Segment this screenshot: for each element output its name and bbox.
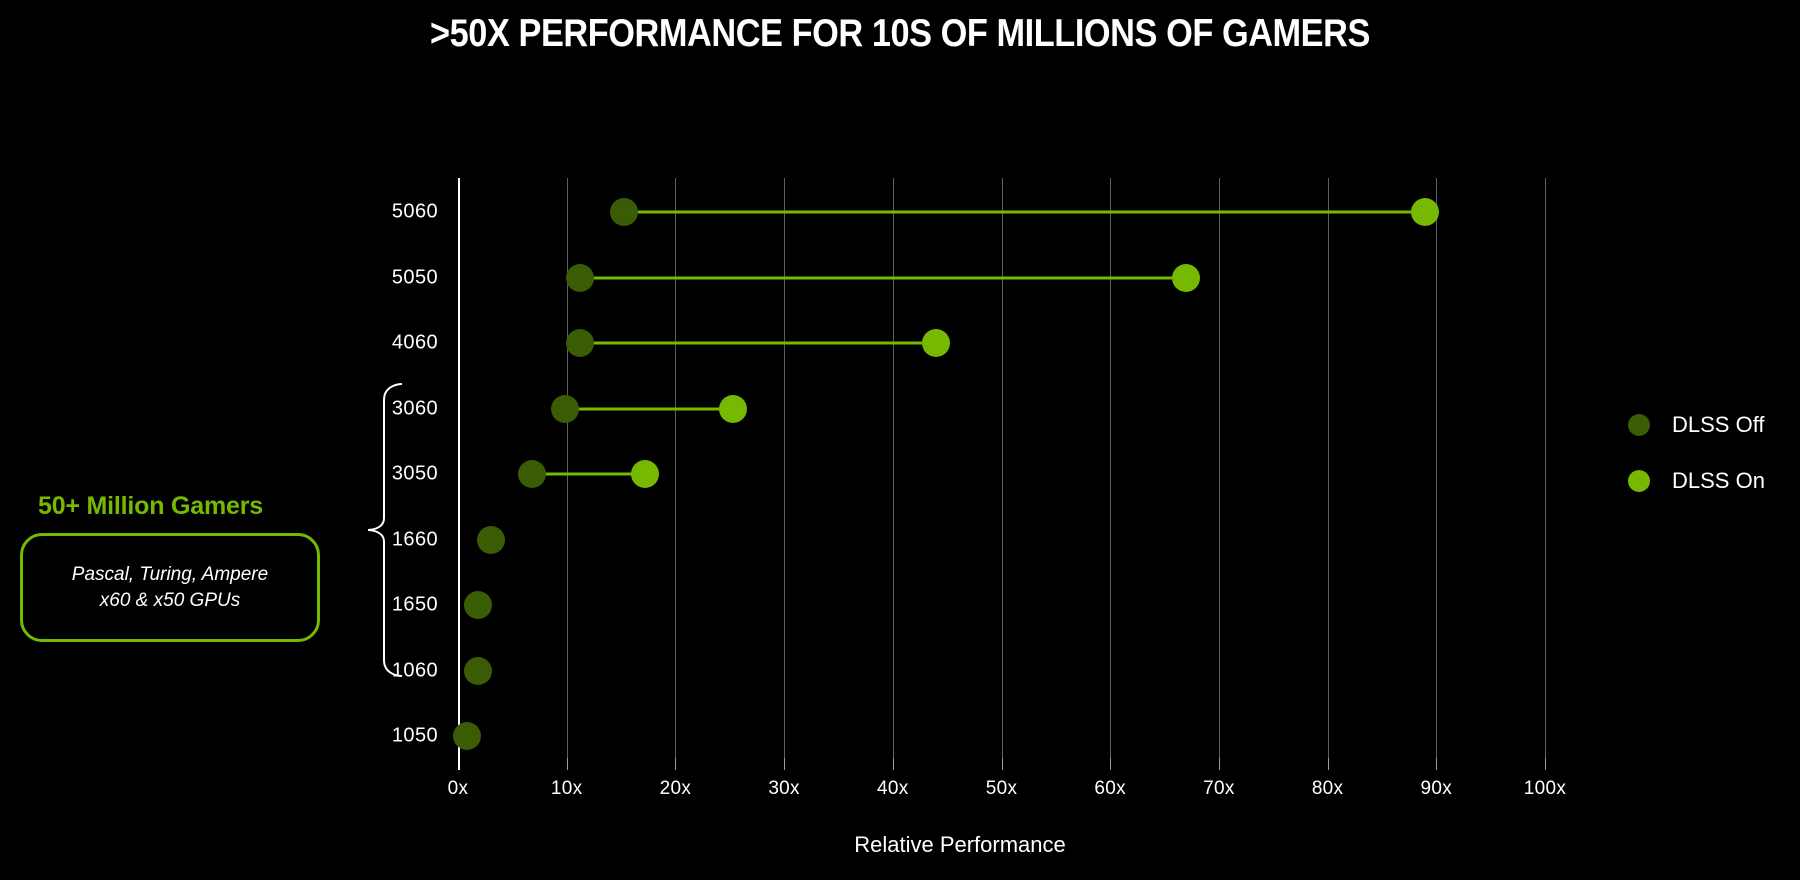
range-connector-line: [532, 473, 645, 476]
data-point-dlss-on[interactable]: [1411, 198, 1439, 226]
x-axis-tick-label: 20x: [630, 778, 720, 800]
legend-item[interactable]: DLSS On: [1628, 468, 1765, 494]
x-axis-tick-label: 60x: [1065, 778, 1155, 800]
y-axis-category-label: 4060: [238, 332, 438, 355]
gridline: [1436, 178, 1437, 758]
gridline: [1545, 178, 1546, 758]
data-point-dlss-on[interactable]: [719, 395, 747, 423]
legend-item-label: DLSS On: [1672, 468, 1765, 494]
data-point-dlss-off[interactable]: [566, 264, 594, 292]
range-connector-line: [565, 407, 733, 410]
data-point-dlss-off[interactable]: [610, 198, 638, 226]
gridline: [675, 178, 676, 758]
y-axis-category-label: 5060: [238, 201, 438, 224]
x-axis-tick-label: 50x: [957, 778, 1047, 800]
gridline: [893, 178, 894, 758]
y-axis-category-label: 1050: [238, 725, 438, 748]
x-axis-title: Relative Performance: [0, 832, 1800, 858]
x-axis-tick: [458, 758, 460, 770]
x-axis-tick-label: 90x: [1391, 778, 1481, 800]
data-point-dlss-on[interactable]: [631, 460, 659, 488]
data-point-dlss-off[interactable]: [464, 657, 492, 685]
gridline: [1110, 178, 1111, 758]
x-axis-tick: [1002, 758, 1003, 770]
data-point-dlss-off[interactable]: [551, 395, 579, 423]
gridline: [1328, 178, 1329, 758]
chart-legend: DLSS OffDLSS On: [1628, 412, 1765, 524]
x-axis-tick: [1110, 758, 1111, 770]
x-axis-tick-label: 100x: [1500, 778, 1590, 800]
callout-line-1: Pascal, Turing, Ampere: [37, 562, 303, 588]
circle-marker-icon: [1628, 414, 1650, 436]
circle-marker-icon: [1628, 470, 1650, 492]
data-point-dlss-off[interactable]: [518, 460, 546, 488]
data-point-dlss-off[interactable]: [477, 526, 505, 554]
x-axis-tick: [1545, 758, 1546, 770]
range-connector-line: [624, 211, 1425, 214]
y-axis-category-label: 5050: [238, 266, 438, 289]
gridline: [784, 178, 785, 758]
data-point-dlss-off[interactable]: [453, 722, 481, 750]
x-axis-tick-label: 10x: [522, 778, 612, 800]
x-axis-tick: [1219, 758, 1220, 770]
range-connector-line: [580, 276, 1187, 279]
x-axis-tick-label: 70x: [1174, 778, 1264, 800]
callout-line-2: x60 & x50 GPUs: [37, 588, 303, 614]
callout-box: Pascal, Turing, Ampere x60 & x50 GPUs: [20, 533, 320, 642]
x-axis-tick-label: 80x: [1283, 778, 1373, 800]
callout-annotation: 50+ Million Gamers Pascal, Turing, Amper…: [20, 492, 320, 642]
data-point-dlss-off[interactable]: [566, 329, 594, 357]
gridline: [1002, 178, 1003, 758]
category-brace: [350, 380, 420, 685]
x-axis-tick-label: 0x: [413, 778, 503, 800]
legend-item-label: DLSS Off: [1672, 412, 1765, 438]
legend-item[interactable]: DLSS Off: [1628, 412, 1765, 438]
x-axis-tick-label: 30x: [739, 778, 829, 800]
page-title: >50X PERFORMANCE FOR 10S OF MILLIONS OF …: [108, 12, 1692, 56]
callout-heading: 50+ Million Gamers: [38, 492, 320, 521]
x-axis-tick: [675, 758, 676, 770]
x-axis-tick: [1436, 758, 1437, 770]
gridline: [567, 178, 568, 758]
range-connector-line: [580, 342, 937, 345]
data-point-dlss-on[interactable]: [1172, 264, 1200, 292]
x-axis-tick: [1328, 758, 1329, 770]
x-axis-tick: [784, 758, 785, 770]
x-axis-tick: [893, 758, 894, 770]
gridline: [1219, 178, 1220, 758]
x-axis-tick: [567, 758, 568, 770]
data-point-dlss-on[interactable]: [922, 329, 950, 357]
slide-canvas: >50X PERFORMANCE FOR 10S OF MILLIONS OF …: [0, 0, 1800, 880]
data-point-dlss-off[interactable]: [464, 591, 492, 619]
plot-area: [459, 178, 1552, 758]
x-axis-tick-label: 40x: [848, 778, 938, 800]
